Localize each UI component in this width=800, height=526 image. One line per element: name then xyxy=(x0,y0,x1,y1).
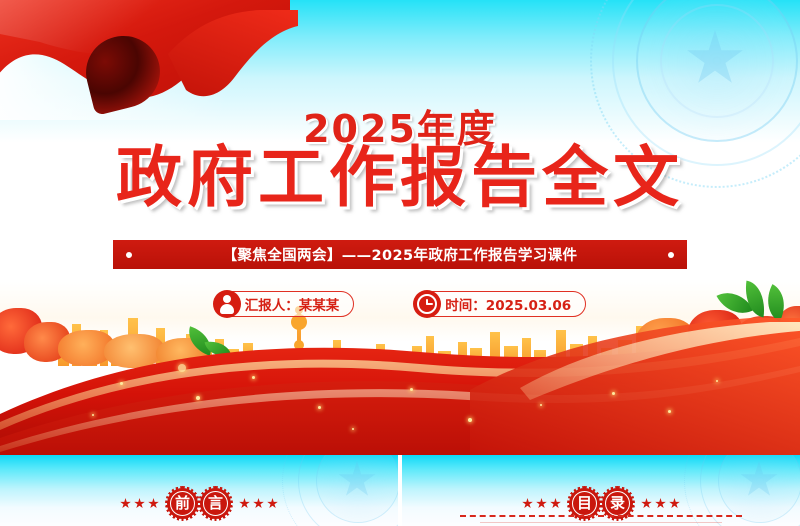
star-icon xyxy=(134,498,145,509)
clock-icon xyxy=(413,290,441,318)
date-badge[interactable]: 时间：2025.03.06 xyxy=(414,291,586,317)
red-ribbon-waves xyxy=(0,318,800,458)
star-icon xyxy=(148,498,159,509)
contents-dashed-divider xyxy=(460,515,742,517)
subtitle-banner: 【聚焦全国两会】——2025年政府工作报告学习课件 xyxy=(113,240,687,269)
stars-left xyxy=(120,498,159,509)
person-icon xyxy=(213,290,241,318)
star-icon xyxy=(253,498,264,509)
presenter-badge[interactable]: 汇报人：某某某 xyxy=(214,291,355,317)
stars-right xyxy=(641,498,680,509)
star-icon xyxy=(120,498,131,509)
preface-panel[interactable]: 前 言 xyxy=(0,455,398,526)
subtitle-banner-text: 【聚焦全国两会】——2025年政府工作报告学习课件 xyxy=(223,244,578,265)
star-icon xyxy=(669,498,680,509)
stars-right xyxy=(239,498,278,509)
banner-left-dot-icon xyxy=(126,252,132,258)
star-icon xyxy=(655,498,666,509)
slide-canvas: 2025年度 政府工作报告全文 【聚焦全国两会】——2025年政府工作报告学习课… xyxy=(0,0,800,526)
seal-stamp: 言 xyxy=(200,488,231,519)
banner-right-dot-icon xyxy=(668,252,674,258)
bottom-panels: 前 言 xyxy=(0,455,800,526)
star-icon xyxy=(641,498,652,509)
star-icon xyxy=(522,498,533,509)
preface-seals: 前 言 xyxy=(167,488,231,519)
star-icon xyxy=(267,498,278,509)
date-label: 时间：2025.03.06 xyxy=(445,294,571,314)
stars-left xyxy=(522,498,561,509)
star-icon xyxy=(239,498,250,509)
info-row: 汇报人：某某某 时间：2025.03.06 xyxy=(0,291,800,317)
star-icon xyxy=(550,498,561,509)
seal-stamp: 前 xyxy=(167,488,198,519)
star-icon xyxy=(536,498,547,509)
preface-heading-group: 前 言 xyxy=(0,488,398,519)
contents-underline xyxy=(480,522,722,523)
contents-panel[interactable]: 目 录 xyxy=(402,455,800,526)
presenter-label: 汇报人：某某某 xyxy=(245,294,340,314)
red-flag-ribbon-icon xyxy=(0,0,290,106)
main-title: 政府工作报告全文 xyxy=(0,145,800,211)
